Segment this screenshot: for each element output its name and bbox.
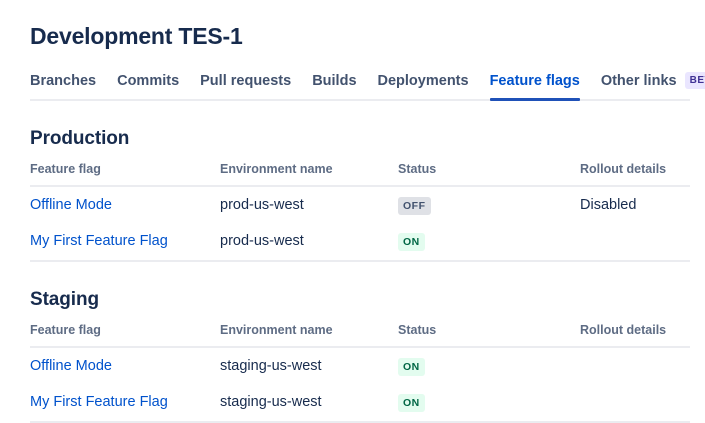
cell-status: ON	[398, 223, 580, 261]
beta-badge: BETA	[685, 72, 705, 89]
cell-environment-name: prod-us-west	[220, 186, 398, 223]
sections-container: ProductionFeature flagEnvironment nameSt…	[30, 127, 690, 423]
cell-environment-name: staging-us-west	[220, 347, 398, 384]
feature-flag-link[interactable]: Offline Mode	[30, 358, 112, 374]
tab-label: Branches	[30, 72, 96, 91]
table-header-row: Feature flagEnvironment nameStatusRollou…	[30, 161, 690, 186]
cell-environment-name: staging-us-west	[220, 384, 398, 422]
cell-feature-flag: My First Feature Flag	[30, 223, 220, 261]
table-row: Offline Modestaging-us-westON	[30, 347, 690, 384]
feature-flag-link[interactable]: Offline Mode	[30, 197, 112, 213]
page-title: Development TES-1	[30, 0, 690, 50]
column-header-environment-name: Environment name	[220, 322, 398, 347]
tab-bar: BranchesCommitsPull requestsBuildsDeploy…	[30, 72, 690, 101]
column-header-feature-flag: Feature flag	[30, 161, 220, 186]
tab-label: Commits	[117, 72, 179, 91]
feature-flag-link[interactable]: My First Feature Flag	[30, 233, 168, 249]
cell-feature-flag: Offline Mode	[30, 347, 220, 384]
tab-builds[interactable]: Builds	[312, 72, 356, 99]
column-header-status: Status	[398, 322, 580, 347]
table-row: My First Feature Flagstaging-us-westON	[30, 384, 690, 422]
tab-commits[interactable]: Commits	[117, 72, 179, 99]
cell-status: ON	[398, 347, 580, 384]
cell-status: ON	[398, 384, 580, 422]
feature-flag-table: Feature flagEnvironment nameStatusRollou…	[30, 322, 690, 423]
cell-rollout-details	[580, 384, 690, 422]
cell-rollout-details: Disabled	[580, 186, 690, 223]
tab-label: Other links	[601, 72, 677, 91]
column-header-rollout-details: Rollout details	[580, 322, 690, 347]
tab-pull-requests[interactable]: Pull requests	[200, 72, 291, 99]
table-row: My First Feature Flagprod-us-westON	[30, 223, 690, 261]
cell-feature-flag: Offline Mode	[30, 186, 220, 223]
tab-branches[interactable]: Branches	[30, 72, 96, 99]
tab-feature-flags[interactable]: Feature flags	[490, 72, 580, 99]
cell-rollout-details	[580, 347, 690, 384]
cell-status: OFF	[398, 186, 580, 223]
column-header-status: Status	[398, 161, 580, 186]
tab-label: Builds	[312, 72, 356, 91]
tab-label: Deployments	[378, 72, 469, 91]
table-header-row: Feature flagEnvironment nameStatusRollou…	[30, 322, 690, 347]
tab-other-links[interactable]: Other linksBETA	[601, 72, 705, 99]
section-staging: StagingFeature flagEnvironment nameStatu…	[30, 288, 690, 423]
section-title: Staging	[30, 288, 690, 312]
status-badge: ON	[398, 233, 425, 251]
feature-flag-table: Feature flagEnvironment nameStatusRollou…	[30, 161, 690, 262]
cell-rollout-details	[580, 223, 690, 261]
section-production: ProductionFeature flagEnvironment nameSt…	[30, 127, 690, 262]
tab-label: Pull requests	[200, 72, 291, 91]
feature-flags-page: Development TES-1 BranchesCommitsPull re…	[0, 0, 705, 412]
status-badge: ON	[398, 358, 425, 376]
column-header-rollout-details: Rollout details	[580, 161, 690, 186]
cell-environment-name: prod-us-west	[220, 223, 398, 261]
column-header-feature-flag: Feature flag	[30, 322, 220, 347]
tab-label: Feature flags	[490, 72, 580, 91]
feature-flag-link[interactable]: My First Feature Flag	[30, 394, 168, 410]
status-badge: OFF	[398, 197, 431, 215]
column-header-environment-name: Environment name	[220, 161, 398, 186]
cell-feature-flag: My First Feature Flag	[30, 384, 220, 422]
status-badge: ON	[398, 394, 425, 412]
table-row: Offline Modeprod-us-westOFFDisabled	[30, 186, 690, 223]
tab-deployments[interactable]: Deployments	[378, 72, 469, 99]
section-title: Production	[30, 127, 690, 151]
